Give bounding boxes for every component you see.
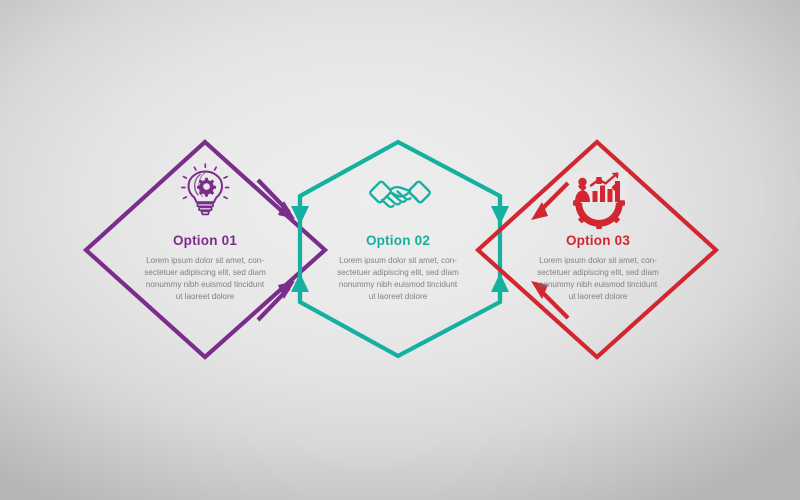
step-text-block-2: Option 02 Lorem ipsum dolor sit amet, co… [298,234,498,303]
desc-line: nonummy nibh euismod tincidunt [524,279,672,291]
desc-line: Lorem ipsum dolor sit amet, con- [131,255,279,267]
step-title-2: Option 02 [298,234,498,249]
step-text-block-3: Option 03 Lorem ipsum dolor sit amet, co… [498,234,698,303]
handshake-icon [370,182,430,207]
connector-red-arrow-upper [531,183,568,220]
lightbulb-gear-icon [182,164,229,214]
step-description-1: Lorem ipsum dolor sit amet, con- sectetu… [131,255,279,304]
infographic-canvas: Option 01 Lorem ipsum dolor sit amet, co… [0,0,800,500]
step-description-2: Lorem ipsum dolor sit amet, con- sectetu… [324,255,472,304]
connector-purple-arrow-upper [258,180,295,219]
desc-line: ut laoreet dolore [324,291,472,303]
desc-line: ut laoreet dolore [524,291,672,303]
step-title-1: Option 01 [105,234,305,249]
desc-line: Lorem ipsum dolor sit amet, con- [524,255,672,267]
connector-teal-right-down [491,196,509,225]
desc-line: Lorem ipsum dolor sit amet, con- [324,255,472,267]
desc-line: sectetuer adipiscing elit, sed diam [131,267,279,279]
step-text-block-1: Option 01 Lorem ipsum dolor sit amet, co… [105,234,305,303]
desc-line: sectetuer adipiscing elit, sed diam [524,267,672,279]
growth-chart-gear-icon [572,172,628,229]
desc-line: ut laoreet dolore [131,291,279,303]
step-description-3: Lorem ipsum dolor sit amet, con- sectetu… [524,255,672,304]
step-title-3: Option 03 [498,234,698,249]
desc-line: nonummy nibh euismod tincidunt [324,279,472,291]
desc-line: nonummy nibh euismod tincidunt [131,279,279,291]
desc-line: sectetuer adipiscing elit, sed diam [324,267,472,279]
